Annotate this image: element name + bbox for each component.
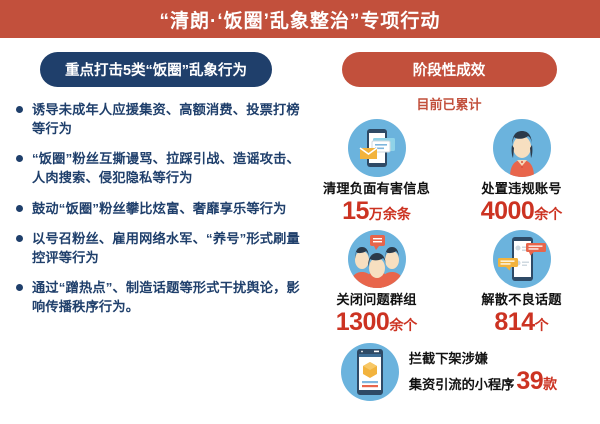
- stat-label: 解散不良话题: [453, 292, 590, 308]
- wide-stat-number: 39: [516, 367, 543, 395]
- list-item: 以号召粉丝、雇用网络水军、“养号”形式刷量控评等行为: [14, 229, 302, 267]
- list-item-text: 以号召粉丝、雇用网络水军、“养号”形式刷量控评等行为: [32, 229, 302, 267]
- list-item: “饭圈”粉丝互撕谩骂、拉踩引战、造谣攻击、人肉搜索、侵犯隐私等行为: [14, 149, 302, 187]
- right-panel-title: 阶段性成效: [342, 52, 557, 87]
- stat-card: 处置违规账号 4000余个: [453, 119, 590, 224]
- stat-value: 814个: [453, 309, 590, 335]
- wide-stat-label-line1: 拦截下架涉嫌: [409, 350, 557, 368]
- left-panel-title: 重点打击5类“饭圈”乱象行为: [40, 52, 272, 87]
- bullet-icon: [16, 235, 23, 242]
- wide-stat-text: 拦截下架涉嫌 集资引流的小程序 39款: [409, 350, 557, 395]
- stat-card: 关闭问题群组 1300余个: [308, 230, 445, 335]
- list-item-text: 通过“蹭热点”、制造话题等形式干扰舆论，影响传播秩序行为。: [32, 278, 302, 316]
- stat-number: 814: [494, 308, 534, 336]
- stat-number: 1300: [336, 308, 390, 336]
- bullet-icon: [16, 284, 23, 291]
- stat-grid: 清理负面有害信息 15万余条: [308, 119, 590, 341]
- list-item: 鼓动“饭圈”粉丝攀比炫富、奢靡享乐等行为: [14, 199, 302, 218]
- stat-label: 清理负面有害信息: [308, 181, 445, 197]
- phone-chat-icon: [493, 230, 551, 288]
- stat-value: 1300余个: [308, 309, 445, 335]
- list-item-text: 鼓动“饭圈”粉丝攀比炫富、奢靡享乐等行为: [32, 199, 287, 218]
- bullet-icon: [16, 155, 23, 162]
- content-body: 重点打击5类“饭圈”乱象行为 诱导未成年人应援集资、高额消费、投票打榜等行为 “…: [0, 38, 600, 424]
- bullet-icon: [16, 106, 23, 113]
- wide-stat-line2: 集资引流的小程序 39款: [409, 367, 557, 394]
- stat-unit: 万余条: [369, 206, 411, 222]
- page-title: “清朗·‘饭圈’乱象整治”专项行动: [160, 6, 441, 33]
- wide-stat-unit: 款: [543, 376, 557, 392]
- mini-program-icon: [341, 343, 399, 401]
- left-panel: 重点打击5类“饭圈”乱象行为 诱导未成年人应援集资、高额消费、投票打榜等行为 “…: [10, 52, 308, 424]
- list-item-text: 诱导未成年人应援集资、高额消费、投票打榜等行为: [32, 100, 302, 138]
- phone-message-icon: [348, 119, 406, 177]
- stat-value: 15万余条: [308, 198, 445, 224]
- bullet-icon: [16, 205, 23, 212]
- list-item-text: “饭圈”粉丝互撕谩骂、拉踩引战、造谣攻击、人肉搜索、侵犯隐私等行为: [32, 149, 302, 187]
- stat-card: 解散不良话题 814个: [453, 230, 590, 335]
- right-panel-subtitle: 目前已累计: [308, 94, 590, 113]
- stat-label: 关闭问题群组: [308, 292, 445, 308]
- stat-number: 15: [342, 197, 369, 225]
- user-account-icon: [493, 119, 551, 177]
- stat-card-wide: 拦截下架涉嫌 集资引流的小程序 39款: [308, 343, 590, 401]
- violation-list: 诱导未成年人应援集资、高额消费、投票打榜等行为 “饭圈”粉丝互撕谩骂、拉踩引战、…: [14, 100, 302, 316]
- page-header: “清朗·‘饭圈’乱象整治”专项行动: [0, 0, 600, 38]
- user-group-icon: [348, 230, 406, 288]
- stat-number: 4000: [481, 197, 535, 225]
- stat-label: 处置违规账号: [453, 181, 590, 197]
- list-item: 诱导未成年人应援集资、高额消费、投票打榜等行为: [14, 100, 302, 138]
- infographic-page: “清朗·‘饭圈’乱象整治”专项行动 重点打击5类“饭圈”乱象行为 诱导未成年人应…: [0, 0, 600, 424]
- stat-unit: 个: [535, 317, 549, 333]
- stat-value: 4000余个: [453, 198, 590, 224]
- wide-stat-label-line2: 集资引流的小程序: [409, 376, 515, 394]
- stat-unit: 余个: [534, 206, 562, 222]
- wide-stat-value: 39款: [514, 368, 557, 394]
- stat-card: 清理负面有害信息 15万余条: [308, 119, 445, 224]
- right-panel: 阶段性成效 目前已累计: [308, 52, 590, 424]
- stat-unit: 余个: [389, 317, 417, 333]
- list-item: 通过“蹭热点”、制造话题等形式干扰舆论，影响传播秩序行为。: [14, 278, 302, 316]
